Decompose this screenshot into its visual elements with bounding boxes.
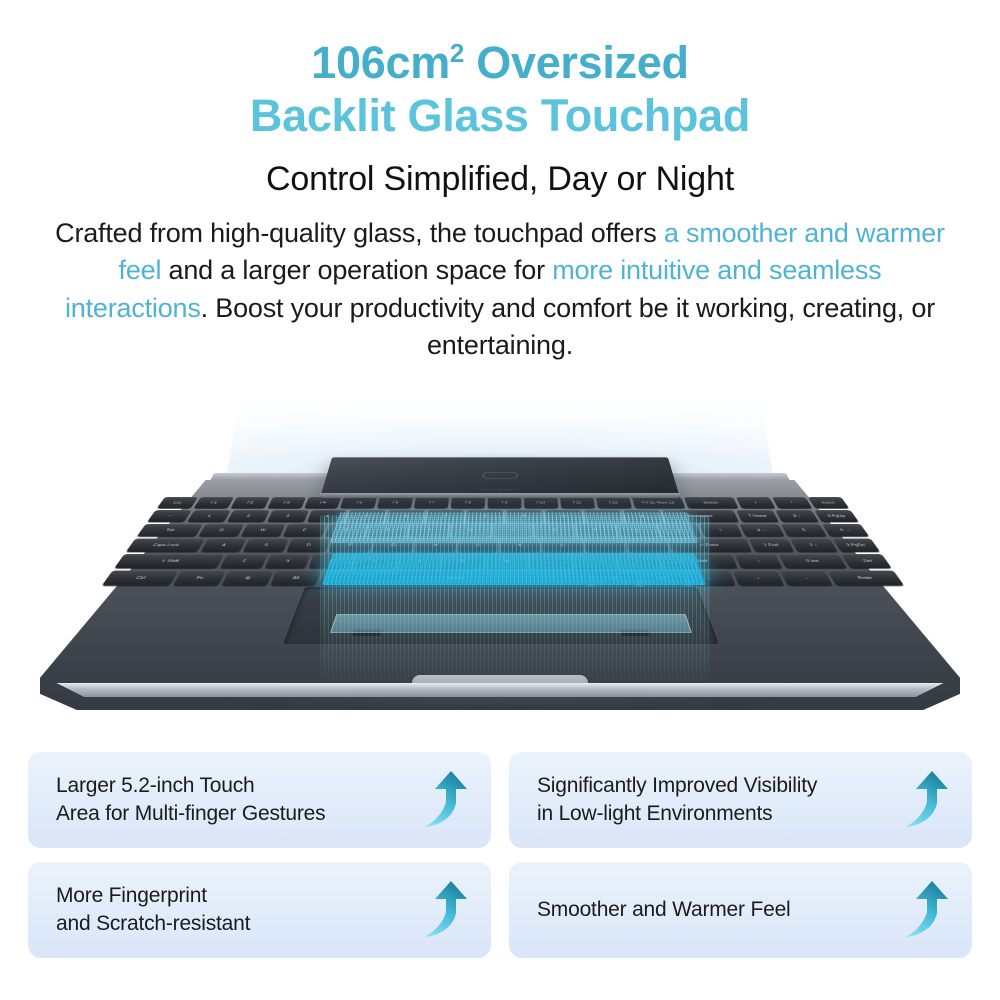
body-segment-3: . Boost your productivity and comfort be… <box>201 293 935 360</box>
plate-etch-sub: ··· <box>496 482 505 485</box>
key-numpad-multiply[interactable]: * <box>772 497 812 508</box>
feature-line-2: in Low-light Environments <box>537 800 892 828</box>
key-tilde[interactable]: ~ <box>147 510 191 522</box>
feature-line-1: Larger 5.2-inch Touch <box>56 772 411 800</box>
key-w[interactable]: W <box>241 524 285 537</box>
subheadline: Control Simplified, Day or Night <box>0 160 1000 199</box>
key-arrow-up[interactable]: ↑ <box>735 554 782 568</box>
feature-line-2: Area for Multi-finger Gestures <box>56 800 411 828</box>
key-fn[interactable]: Fn <box>173 570 226 585</box>
key-windows[interactable]: ⊞ <box>222 570 273 585</box>
up-arrow-icon <box>419 879 473 941</box>
plate-etch-top: · · · <box>493 464 507 467</box>
plate-etch-left: — — <box>403 473 420 476</box>
key-numpad-8[interactable]: 8 ↑ <box>776 510 819 522</box>
key-numpad-9[interactable]: 9 PgUp <box>814 510 858 522</box>
feature-card-text: Significantly Improved Visibility in Low… <box>537 772 892 827</box>
key-caps-lock[interactable]: Caps Lock <box>126 538 205 552</box>
touchpad-sensor-mesh-upper <box>330 512 698 543</box>
key-delete[interactable]: Delete <box>684 497 739 508</box>
headline-area-value: 106cm <box>311 37 450 88</box>
touchpad-glass-lower-layer <box>330 614 692 633</box>
key-z[interactable]: Z <box>220 554 267 568</box>
product-feature-page: 106cm2 Oversized Backlit Glass Touchpad … <box>0 0 1000 1000</box>
key-numpad-2[interactable]: 2 ↓ <box>790 538 837 552</box>
key-f3[interactable]: F3 <box>267 497 305 508</box>
key-arrow-right[interactable]: → <box>780 570 833 585</box>
body-segment-1: Crafted from high-quality glass, the tou… <box>55 218 664 248</box>
plate-etch-center: ◦ ◦ ◦ <box>482 472 518 478</box>
key-numpad-0[interactable]: 0 Ins <box>779 554 848 568</box>
feature-card-scratch-resistant[interactable]: More Fingerprint and Scratch-resistant <box>28 862 491 958</box>
keyboard-row-function: Esc F1 F2 F3 F4 F5 F6 F7 F8 F9 F10 F11 F… <box>157 497 849 508</box>
key-1[interactable]: 1 <box>187 510 230 522</box>
key-numpad-1[interactable]: 1 End <box>748 538 794 552</box>
key-numpad-3[interactable]: 3 PgDn <box>832 538 880 552</box>
key-f5[interactable]: F5 <box>341 497 378 508</box>
touchpad-sensor-mesh-lower <box>322 553 706 585</box>
key-f8[interactable]: F8 <box>451 497 485 508</box>
laptop-drop-shadow <box>90 695 910 717</box>
headline-line-1-suffix: Oversized <box>464 37 689 88</box>
key-arrow-down[interactable]: ↓ <box>733 570 784 585</box>
up-arrow-icon <box>900 879 954 941</box>
touchpad-glass-top-plate: · · · — — ◦ ◦ ◦ — — ··· ▪▪▪▪▪▪▪▪▪▪ <box>320 457 680 498</box>
key-f4[interactable]: F4 <box>304 497 342 508</box>
key-2[interactable]: 2 <box>227 510 269 522</box>
key-insert[interactable]: Insert <box>808 497 849 508</box>
key-alt-left[interactable]: Alt <box>270 570 320 585</box>
key-q[interactable]: Q <box>198 524 243 537</box>
key-numpad-7[interactable]: 7 Home <box>737 510 779 522</box>
plate-etch-brand: ▪▪▪▪▪▪▪▪▪▪ <box>483 488 517 492</box>
key-shift-left[interactable]: ⇧ Shift <box>114 554 224 568</box>
key-print-screen[interactable]: Prt Sc Num Lk <box>632 497 686 508</box>
headline-line-2: Backlit Glass Touchpad <box>0 93 1000 138</box>
key-3[interactable]: 3 <box>267 510 309 522</box>
key-esc[interactable]: Esc <box>157 497 198 508</box>
body-segment-2: and a larger operation space for <box>161 255 552 285</box>
feature-line-1: More Fingerprint <box>56 882 411 910</box>
key-f1[interactable]: F1 <box>194 497 234 508</box>
key-f2[interactable]: F2 <box>230 497 269 508</box>
feature-card-smoother-feel[interactable]: Smoother and Warmer Feel <box>509 862 972 958</box>
key-f6[interactable]: F6 <box>377 497 413 508</box>
key-a[interactable]: A <box>200 538 246 552</box>
glass-plate-edge <box>320 493 680 498</box>
plate-etch-right: — — <box>581 473 598 476</box>
feature-card-grid: Larger 5.2-inch Touch Area for Multi-fin… <box>28 752 972 958</box>
feature-card-visibility[interactable]: Significantly Improved Visibility in Low… <box>509 752 972 848</box>
key-f9[interactable]: F9 <box>488 497 522 508</box>
key-f11[interactable]: F11 <box>560 497 595 508</box>
key-s[interactable]: S <box>243 538 288 552</box>
key-f10[interactable]: F10 <box>524 497 558 508</box>
feature-card-text: Larger 5.2-inch Touch Area for Multi-fin… <box>56 772 411 827</box>
key-numpad-enter[interactable]: Enter <box>827 570 904 585</box>
headline-superscript: 2 <box>450 38 464 68</box>
headline-block: 106cm2 Oversized Backlit Glass Touchpad <box>0 0 1000 138</box>
feature-line-2: and Scratch-resistant <box>56 910 411 938</box>
up-arrow-icon <box>900 769 954 831</box>
feature-line-1: Smoother and Warmer Feel <box>537 896 892 924</box>
feature-card-touch-area[interactable]: Larger 5.2-inch Touch Area for Multi-fin… <box>28 752 491 848</box>
up-arrow-icon <box>419 769 473 831</box>
key-numpad-decimal[interactable]: . Del <box>842 554 892 568</box>
key-f7[interactable]: F7 <box>414 497 449 508</box>
body-paragraph: Crafted from high-quality glass, the tou… <box>50 215 950 364</box>
feature-line-1: Significantly Improved Visibility <box>537 772 892 800</box>
key-x[interactable]: X <box>265 554 311 568</box>
feature-card-text: More Fingerprint and Scratch-resistant <box>56 882 411 937</box>
key-numpad-4[interactable]: 4 ← <box>740 524 785 537</box>
key-numpad-5[interactable]: 5 <box>781 524 827 537</box>
feature-card-text: Smoother and Warmer Feel <box>537 896 892 924</box>
key-f12[interactable]: F12 <box>596 497 632 508</box>
key-tab[interactable]: Tab <box>137 524 203 537</box>
key-numpad-divide[interactable]: / <box>736 497 775 508</box>
headline-line-1: 106cm2 Oversized <box>0 40 1000 85</box>
key-ctrl-left[interactable]: Ctrl <box>102 570 179 585</box>
product-image: Esc F1 F2 F3 F4 F5 F6 F7 F8 F9 F10 F11 F… <box>0 365 1000 740</box>
